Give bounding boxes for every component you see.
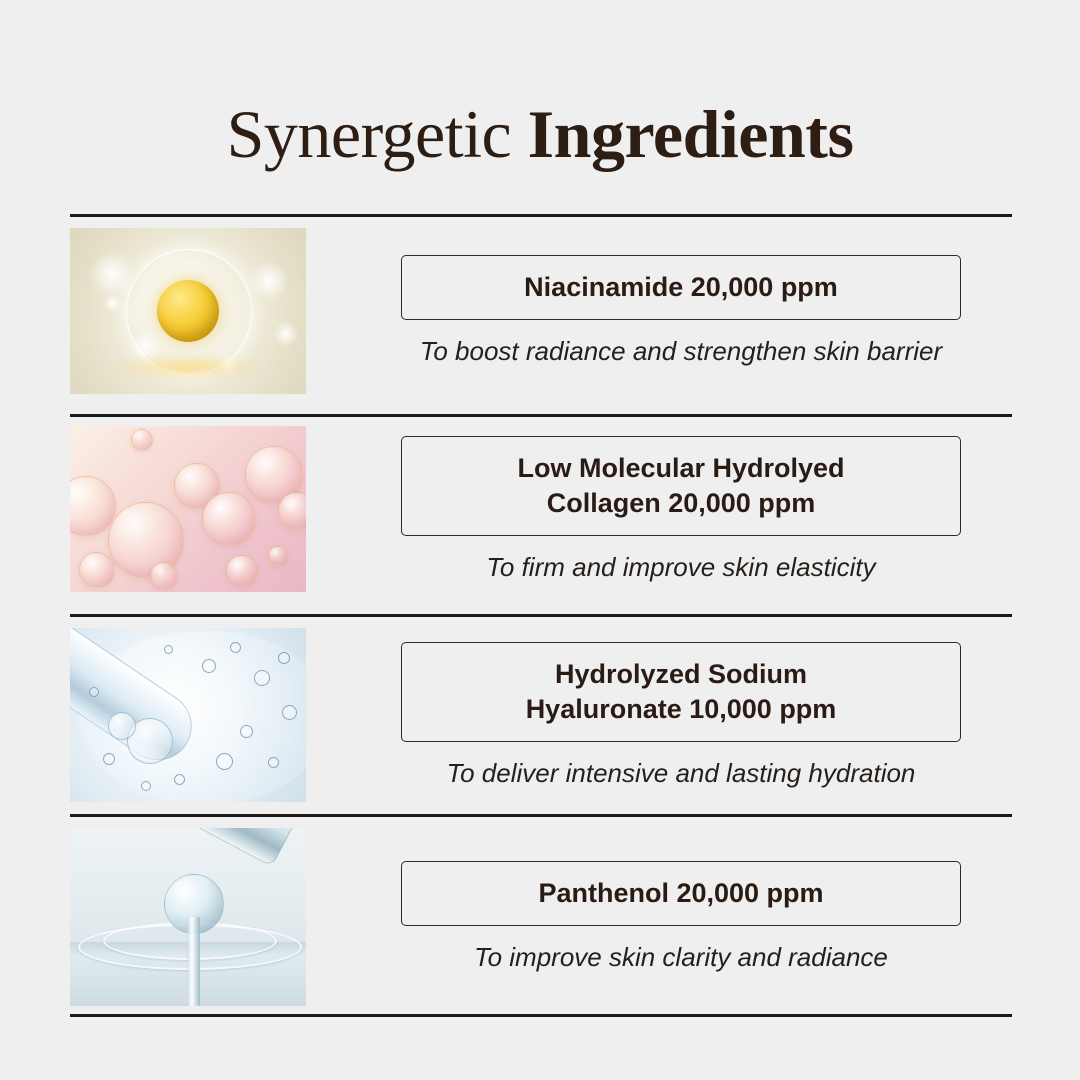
ingredient-row-1: Niacinamide 20,000 ppm To boost radiance… — [70, 228, 1012, 394]
page-title: Synergetic Ingredients — [0, 96, 1080, 172]
ingredient-description-3: To deliver intensive and lasting hydrati… — [447, 757, 916, 789]
divider-top — [70, 214, 1012, 217]
water-droplet-ripple-image — [70, 828, 306, 1006]
ingredient-row-3: Hydrolyzed Sodium Hyaluronate 10,000 ppm… — [70, 628, 1012, 802]
page-title-bold: Ingredients — [528, 96, 854, 172]
ingredient-content-1: Niacinamide 20,000 ppm To boost radiance… — [306, 255, 1012, 367]
pink-collagen-bubbles-image — [70, 426, 306, 592]
ingredient-description-4: To improve skin clarity and radiance — [474, 941, 888, 973]
ingredient-label-box-1[interactable]: Niacinamide 20,000 ppm — [401, 255, 961, 320]
ingredient-description-2: To firm and improve skin elasticity — [486, 551, 875, 583]
ingredient-row-2: Low Molecular Hydrolyed Collagen 20,000 … — [70, 426, 1012, 592]
ingredient-label-2: Low Molecular Hydrolyed Collagen 20,000 … — [418, 451, 944, 521]
ingredient-label-box-2[interactable]: Low Molecular Hydrolyed Collagen 20,000 … — [401, 436, 961, 536]
ingredient-label-1: Niacinamide 20,000 ppm — [418, 270, 944, 305]
ingredient-description-1: To boost radiance and strengthen skin ba… — [420, 335, 942, 367]
ingredient-label-box-4[interactable]: Panthenol 20,000 ppm — [401, 861, 961, 926]
hyaluronic-gel-dropper-image — [70, 628, 306, 802]
page-title-light: Synergetic — [227, 96, 528, 172]
ingredients-infographic: Synergetic Ingredients Niacinamide 20,00… — [0, 0, 1080, 1080]
ingredient-label-4: Panthenol 20,000 ppm — [418, 876, 944, 911]
ingredient-label-box-3[interactable]: Hydrolyzed Sodium Hyaluronate 10,000 ppm — [401, 642, 961, 742]
ingredient-label-3: Hydrolyzed Sodium Hyaluronate 10,000 ppm — [418, 657, 944, 727]
ingredient-content-3: Hydrolyzed Sodium Hyaluronate 10,000 ppm… — [306, 642, 1012, 789]
golden-serum-droplet-image — [70, 228, 306, 394]
divider-3 — [70, 814, 1012, 817]
divider-bottom — [70, 1014, 1012, 1017]
ingredient-content-2: Low Molecular Hydrolyed Collagen 20,000 … — [306, 436, 1012, 583]
divider-1 — [70, 414, 1012, 417]
ingredient-content-4: Panthenol 20,000 ppm To improve skin cla… — [306, 861, 1012, 973]
divider-2 — [70, 614, 1012, 617]
ingredient-row-4: Panthenol 20,000 ppm To improve skin cla… — [70, 828, 1012, 1006]
